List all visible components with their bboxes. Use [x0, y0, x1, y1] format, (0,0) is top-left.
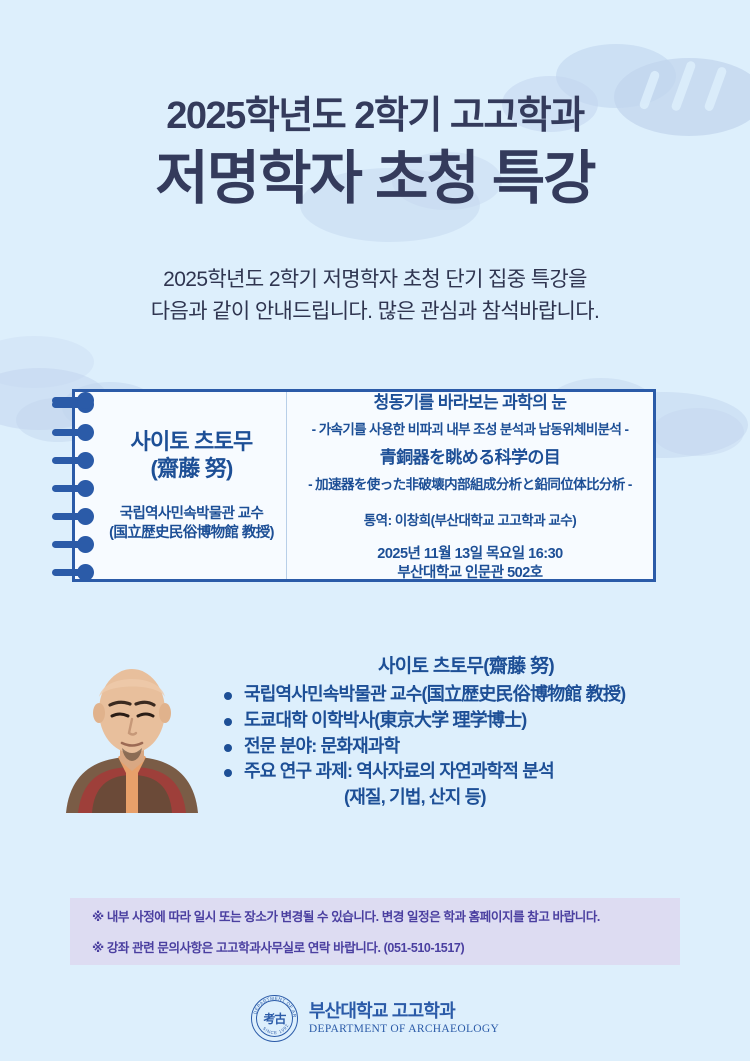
- university-seal-icon: DEPARTMENT OF ARCHAEOLOGY SINCE 1992 考古: [251, 995, 298, 1042]
- binding-ring-icon: [52, 485, 89, 492]
- binding-ring-icon: [52, 397, 89, 404]
- notice-line-contact: ※ 강좌 관련 문의사항은 고고학과사무실로 연락 바랍니다. (051-510…: [92, 941, 658, 956]
- subtitle-line-1: 2025학년도 2학기 저명학자 초청 단기 집중 특강을: [0, 264, 750, 296]
- speaker-affiliation-japanese: (国立歴史民俗博物館 教授): [109, 524, 274, 544]
- department-name-block: 부산대학교 고고학과 DEPARTMENT OF ARCHAEOLOGY: [309, 1001, 499, 1036]
- lecture-info-card-zone: 사이토 츠토무 (齋藤 努) 국립역사민속박물관 교수 (国立歴史民俗博物館 教…: [0, 389, 750, 589]
- speaker-bio-text: 사이토 츠토무(齋藤 努) 국립역사민속박물관 교수(国立歴史民俗博物館 教授)…: [216, 651, 716, 810]
- binding-ring-icon: [52, 541, 89, 548]
- binding-ring-icon: [52, 513, 89, 520]
- lecture-subtitle-japanese: - 加速器を使った非破壊内部組成分析と鉛同位体比分析 -: [308, 473, 632, 493]
- lecture-datetime: 2025년 11월 13일 목요일 16:30: [377, 545, 562, 565]
- poster-page: 2025학년도 2학기 고고학과 저명학자 초청 특강 2025학년도 2학기 …: [0, 0, 750, 1061]
- page-title-line-1: 2025학년도 2학기 고고학과: [0, 96, 750, 138]
- department-name-english: DEPARTMENT OF ARCHAEOLOGY: [309, 1023, 499, 1036]
- subtitle-line-2: 다음과 같이 안내드립니다. 많은 관심과 참석바랍니다.: [0, 296, 750, 328]
- lecture-detail-panel: 청동기를 바라보는 과학의 눈 - 가속기를 사용한 비파괴 내부 조성 분석과…: [287, 392, 653, 579]
- department-footer: DEPARTMENT OF ARCHAEOLOGY SINCE 1992 考古 …: [0, 995, 750, 1042]
- poster-subtitle: 2025학년도 2학기 저명학자 초청 단기 집중 특강을 다음과 같이 안내드…: [0, 264, 750, 327]
- lecture-title-japanese: 青銅器を眺める科学の目: [380, 443, 560, 468]
- speaker-affiliation-block: 국립역사민속박물관 교수 (国立歴史民俗博物館 教授): [109, 505, 274, 544]
- binding-ring-icon: [52, 457, 89, 464]
- lecture-title-korean: 청동기를 바라보는 과학의 눈: [374, 388, 567, 413]
- department-name-korean: 부산대학교 고고학과: [309, 1001, 499, 1021]
- notice-box: ※ 내부 사정에 따라 일시 또는 장소가 변경될 수 있습니다. 변경 일정은…: [70, 898, 680, 965]
- list-item: 도쿄대학 이학박사(東京大学 理学博士): [216, 708, 716, 734]
- speaker-portrait-photo: [58, 653, 206, 813]
- speaker-name-block: 사이토 츠토무 (齋藤 努): [131, 428, 253, 483]
- notice-line-schedule-change: ※ 내부 사정에 따라 일시 또는 장소가 변경될 수 있습니다. 변경 일정은…: [92, 910, 658, 925]
- bio-speaker-name: 사이토 츠토무(齋藤 努): [216, 651, 716, 678]
- bio-continuation-line: (재질, 기법, 산지 등): [216, 785, 716, 811]
- lecture-subtitle-korean: - 가속기를 사용한 비파괴 내부 조성 분석과 납동위체비분석 -: [312, 418, 629, 438]
- speaker-affiliation-korean: 국립역사민속박물관 교수: [109, 505, 274, 525]
- interpreter-line: 통역: 이창희(부산대학교 고고학과 교수): [364, 509, 576, 529]
- poster-title-block: 2025학년도 2학기 고고학과 저명학자 초청 특강: [0, 0, 750, 212]
- speaker-name-korean: 사이토 츠토무: [131, 428, 253, 456]
- list-item: 국립역사민속박물관 교수(国立歴史民俗博物館 教授): [216, 682, 716, 708]
- list-item: 전문 분야: 문화재과학: [216, 734, 716, 760]
- binding-ring-icon: [52, 429, 89, 436]
- page-title-line-2: 저명학자 초청 특강: [0, 146, 750, 213]
- bio-credential-list: 국립역사민속박물관 교수(国立歴史民俗博物館 教授) 도쿄대학 이학박사(東京大…: [216, 682, 716, 784]
- speaker-name-japanese: (齋藤 努): [131, 455, 253, 483]
- spiral-binding: [52, 397, 112, 577]
- seal-characters: 考古: [263, 1013, 285, 1025]
- lecture-venue: 부산대학교 인문관 502호: [377, 564, 562, 584]
- lecture-info-card: 사이토 츠토무 (齋藤 努) 국립역사민속박물관 교수 (国立歴史民俗博物館 教…: [72, 389, 656, 582]
- list-item: 주요 연구 과제: 역사자료의 자연과학적 분석: [216, 759, 716, 785]
- schedule-block: 2025년 11월 13일 목요일 16:30 부산대학교 인문관 502호: [377, 545, 562, 584]
- speaker-bio-section: 사이토 츠토무(齋藤 努) 국립역사민속박물관 교수(国立歴史民俗博物館 教授)…: [0, 651, 750, 831]
- binding-ring-icon: [52, 569, 89, 576]
